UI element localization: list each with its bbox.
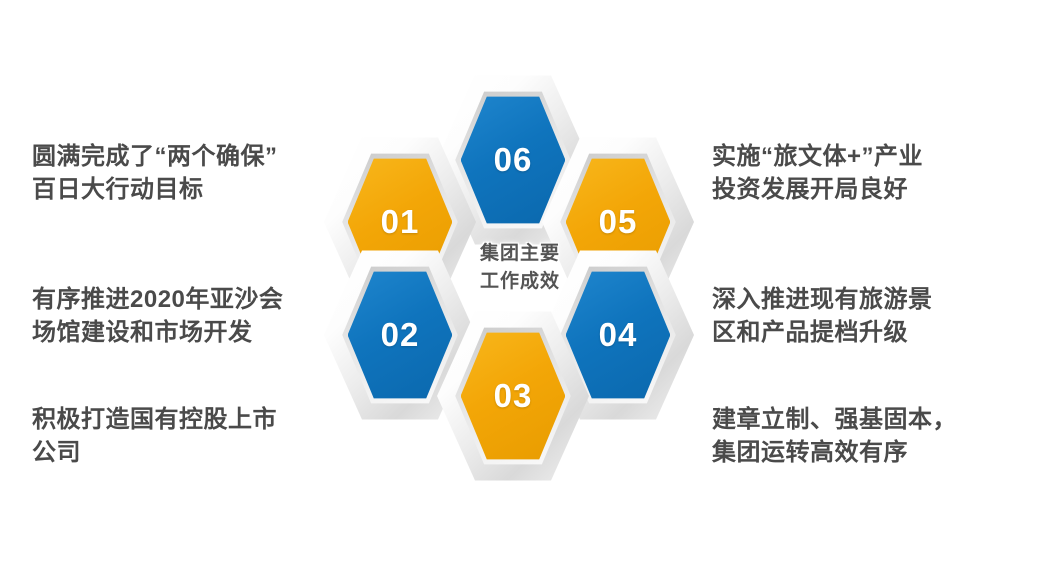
center-caption: 集团主要 工作成效	[440, 240, 600, 295]
right-item-3-text: 建章立制、强基固本， 集团运转高效有序	[712, 403, 1042, 469]
hexagon-number-01: 01	[381, 205, 420, 238]
hexagon-number-04: 04	[599, 318, 638, 351]
honeycomb-cluster: 06 01 05 02 04	[320, 78, 720, 478]
left-item-1-text: 圆满完成了“两个确保” 百日大行动目标	[32, 140, 362, 206]
infographic-page: 圆满完成了“两个确保” 百日大行动目标 有序推进2020年亚沙会 场馆建设和市场…	[0, 0, 1050, 588]
right-item-2-text: 深入推进现有旅游景 区和产品提档升级	[712, 283, 1042, 349]
hexagon-number-03: 03	[494, 379, 533, 412]
left-item-2-text: 有序推进2020年亚沙会 场馆建设和市场开发	[32, 283, 362, 349]
hexagon-03[interactable]: 03	[437, 308, 589, 484]
hexagon-number-05: 05	[599, 205, 638, 238]
left-item-3-text: 积极打造国有控股上市 公司	[32, 403, 362, 469]
hexagon-number-06: 06	[494, 143, 533, 176]
hexagon-number-02: 02	[381, 318, 420, 351]
right-item-1-text: 实施“旅文体+”产业 投资发展开局良好	[712, 140, 1042, 206]
